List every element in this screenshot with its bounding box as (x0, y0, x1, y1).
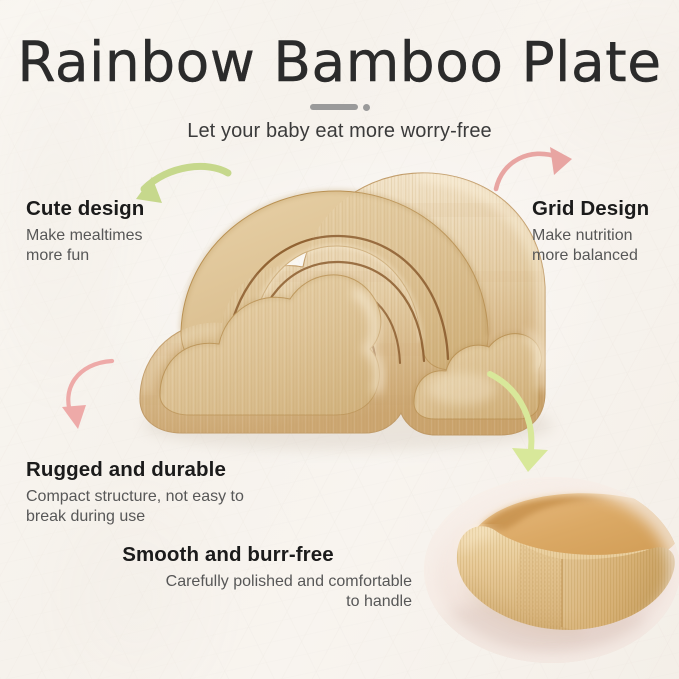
pink-curved-arrow-down-icon (56, 355, 118, 441)
title-divider (0, 102, 679, 112)
feature-heading: Cute design (26, 197, 144, 221)
feature-cute-design: Cute design Make mealtimes more fun (26, 197, 144, 266)
feature-body-line1: Make mealtimes (26, 226, 144, 246)
plate-edge-closeup-illustration (424, 477, 679, 663)
feature-body-line2: more balanced (532, 246, 649, 266)
green-curved-arrow-down-right-icon (482, 368, 554, 478)
infographic-page: Rainbow Bamboo Plate Let your baby eat m… (0, 0, 679, 679)
feature-smooth-and-burr-free: Smooth and burr-free Carefully polished … (22, 543, 412, 612)
feature-body-line1: Carefully polished and comfortable (22, 572, 412, 592)
feature-body-line1: Make nutrition (532, 226, 649, 246)
feature-body-line2: more fun (26, 246, 144, 266)
feature-body-line1: Compact structure, not easy to (26, 487, 244, 507)
divider-bar (310, 104, 358, 110)
feature-body-line2: break during use (26, 507, 244, 527)
feature-body-line2: to handle (22, 592, 412, 612)
feature-heading: Grid Design (532, 197, 649, 221)
detail-photo-plate-edge-closeup (424, 477, 679, 663)
feature-heading: Smooth and burr-free (22, 543, 412, 567)
pink-curved-arrow-down-right-icon (492, 145, 592, 201)
feature-rugged-and-durable: Rugged and durable Compact structure, no… (26, 458, 244, 527)
page-subtitle: Let your baby eat more worry-free (0, 120, 679, 143)
page-title: Rainbow Bamboo Plate (0, 32, 679, 92)
divider-dot (363, 104, 370, 111)
feature-heading: Rugged and durable (26, 458, 244, 482)
feature-grid-design: Grid Design Make nutrition more balanced (532, 197, 649, 266)
